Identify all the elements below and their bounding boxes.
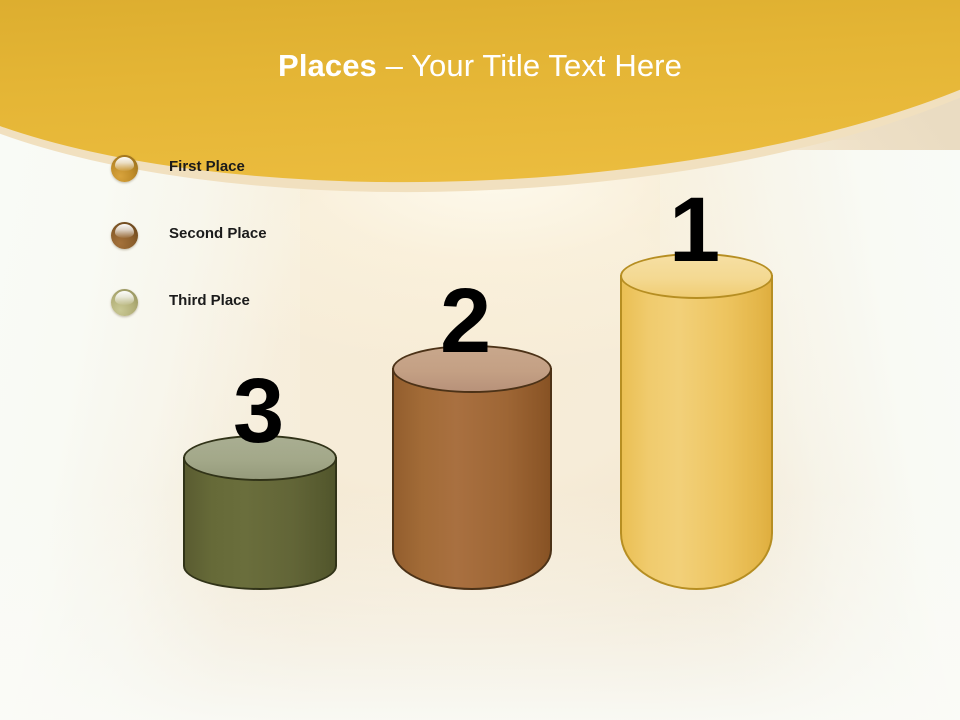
podium-column-body: [620, 275, 773, 590]
slide-canvas: Places – Your Title Text Here First Plac…: [0, 0, 960, 720]
page-title-separator: –: [377, 48, 411, 83]
podium-column-second-place[interactable]: 2: [392, 345, 552, 590]
podium-rank-numeral: 3: [233, 365, 282, 457]
sphere-bullet-icon: [111, 155, 138, 182]
legend-item-label: Second Place: [169, 225, 267, 242]
legend-item-label: Third Place: [169, 292, 250, 309]
podium-column-body: [392, 368, 552, 590]
sphere-bullet-icon: [111, 222, 138, 249]
podium-column-first-place[interactable]: 1: [620, 253, 773, 590]
page-title: Places – Your Title Text Here: [0, 48, 960, 84]
page-title-strong: Places: [278, 48, 377, 83]
sphere-bullet-icon: [111, 289, 138, 316]
page-title-rest: Your Title Text Here: [411, 48, 682, 83]
legend-item-label: First Place: [169, 158, 245, 175]
podium-rank-numeral: 1: [669, 184, 718, 276]
podium-rank-numeral: 2: [440, 275, 489, 367]
podium-column-third-place[interactable]: 3: [183, 435, 337, 590]
